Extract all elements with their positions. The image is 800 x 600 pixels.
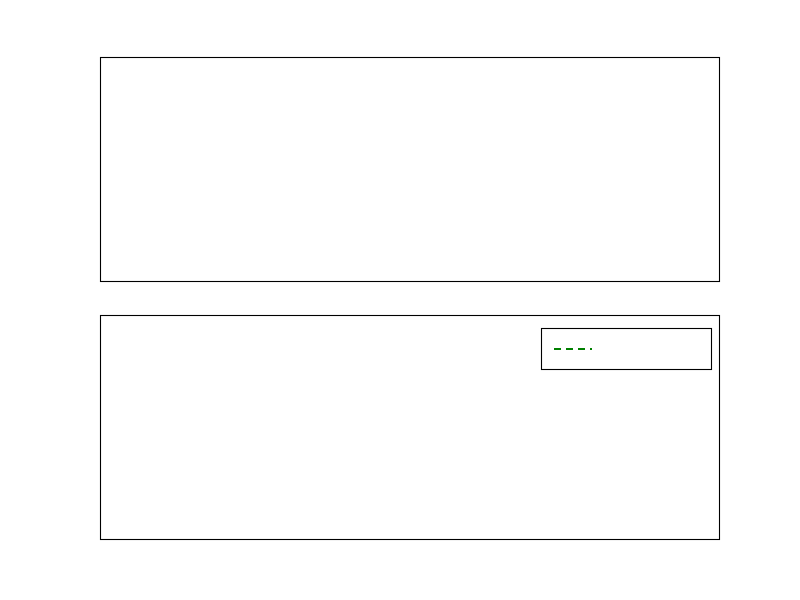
top-panel-axes <box>101 58 720 282</box>
legend[interactable] <box>542 329 712 370</box>
top-panel-frame <box>101 58 720 282</box>
figure-canvas <box>0 0 800 600</box>
matplotlib-figure <box>0 0 800 600</box>
